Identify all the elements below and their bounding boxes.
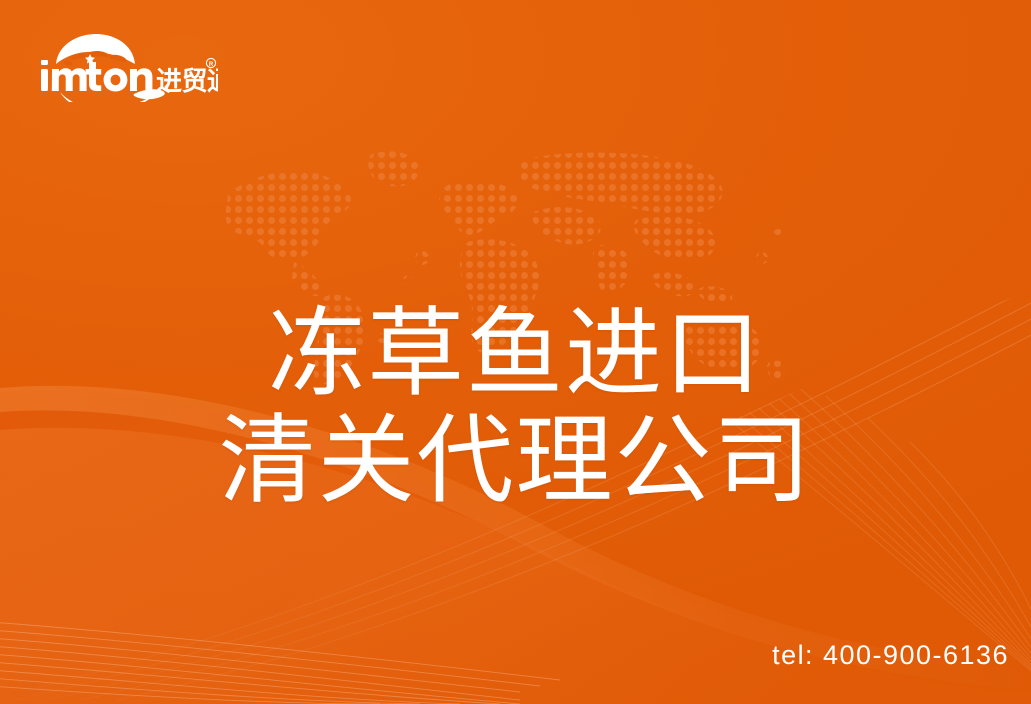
page-title-line1: 冻草鱼进口 (0, 301, 1031, 408)
page-title: 冻草鱼进口 清关代理公司 (0, 301, 1031, 514)
svg-text:进贸通: 进贸通 (156, 66, 218, 96)
logo-wordmark-cn: 进贸通 (156, 66, 218, 96)
poster-canvas: 进贸通 R 冻草鱼进口 清关代理公司 tel: 400-900-6136 (0, 0, 1031, 704)
globe-dome-icon (56, 34, 135, 65)
registered-mark-icon: R (206, 58, 215, 68)
contact-phone[interactable]: tel: 400-900-6136 (772, 640, 1009, 671)
brand-logo[interactable]: 进贸通 R (38, 30, 218, 102)
logo-wordmark-latin (41, 60, 152, 92)
page-title-line2: 清关代理公司 (0, 408, 1031, 515)
svg-text:R: R (209, 62, 214, 68)
